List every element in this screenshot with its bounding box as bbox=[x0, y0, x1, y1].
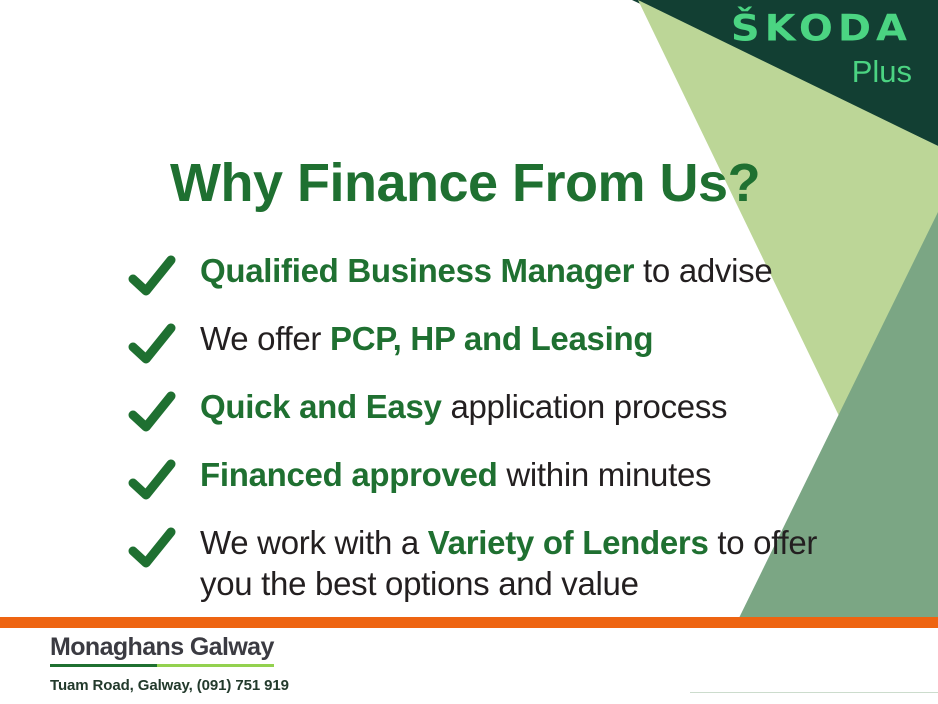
list-item: Quick and Easy application process bbox=[128, 386, 818, 436]
check-icon bbox=[128, 526, 176, 572]
list-item: We offer PCP, HP and Leasing bbox=[128, 318, 818, 368]
footer: Monaghans Galway Tuam Road, Galway, (091… bbox=[50, 633, 289, 694]
plain-text: application process bbox=[442, 388, 728, 425]
footer-hairline bbox=[690, 692, 938, 693]
check-icon bbox=[128, 254, 176, 300]
highlight-text: Financed approved bbox=[200, 456, 497, 493]
highlight-text: PCP, HP and Leasing bbox=[330, 320, 653, 357]
list-item: Qualified Business Manager to advise bbox=[128, 250, 818, 300]
skoda-plus-logo: ŠKODA Plus bbox=[731, 10, 912, 87]
check-icon bbox=[128, 458, 176, 504]
skoda-wordmark: ŠKODA bbox=[731, 10, 912, 47]
plain-text: within minutes bbox=[497, 456, 711, 493]
highlight-text: Qualified Business Manager bbox=[200, 252, 634, 289]
highlight-text: Variety of Lenders bbox=[428, 524, 709, 561]
plain-text: We offer bbox=[200, 320, 330, 357]
highlight-text: Quick and Easy bbox=[200, 388, 442, 425]
dealer-name-text: Monaghans Galway bbox=[50, 633, 274, 661]
list-item-text: We work with a Variety of Lenders to off… bbox=[200, 522, 818, 605]
list-item: We work with a Variety of Lenders to off… bbox=[128, 522, 818, 605]
list-item-text: Qualified Business Manager to advise bbox=[200, 250, 772, 291]
dealer-name: Monaghans Galway bbox=[50, 633, 274, 667]
orange-divider bbox=[0, 617, 938, 628]
list-item: Financed approved within minutes bbox=[128, 454, 818, 504]
underline-dark-segment bbox=[50, 664, 157, 667]
list-item-text: Quick and Easy application process bbox=[200, 386, 727, 427]
skoda-plus-subtitle: Plus bbox=[731, 56, 912, 87]
dealer-address: Tuam Road, Galway, (091) 751 919 bbox=[50, 677, 289, 694]
list-item-text: Financed approved within minutes bbox=[200, 454, 711, 495]
page-title: Why Finance From Us? bbox=[170, 152, 760, 214]
plain-text: to advise bbox=[634, 252, 772, 289]
check-icon bbox=[128, 322, 176, 368]
finance-promo-poster: ŠKODA Plus Why Finance From Us? Qualifie… bbox=[0, 0, 938, 704]
plain-text: We work with a bbox=[200, 524, 428, 561]
list-item-text: We offer PCP, HP and Leasing bbox=[200, 318, 653, 359]
benefits-list: Qualified Business Manager to advise We … bbox=[128, 250, 818, 623]
underline-light-segment bbox=[157, 664, 273, 667]
check-icon bbox=[128, 390, 176, 436]
